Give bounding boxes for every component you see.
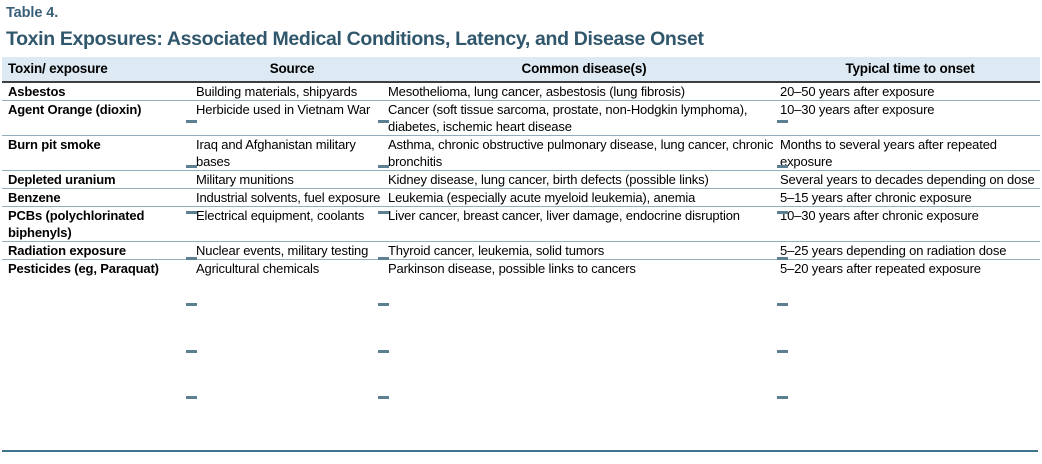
table-row: Asbestos Building materials, shipyards M… xyxy=(2,82,1040,101)
table-figure: Table 4. Toxin Exposures: Associated Med… xyxy=(0,0,1042,464)
table-bottom-rule xyxy=(2,450,1038,452)
table-row: Depleted uranium Military munitions Kidn… xyxy=(2,171,1040,189)
column-header-onset: Typical time to onset xyxy=(780,57,1040,82)
rule-tick xyxy=(378,350,389,353)
column-header-toxin: Toxin/ exposure xyxy=(2,57,196,82)
rule-tick xyxy=(378,303,389,306)
table-header: Toxin/ exposure Source Common disease(s)… xyxy=(2,57,1040,82)
table-header-row: Toxin/ exposure Source Common disease(s)… xyxy=(2,57,1040,82)
table-row: Burn pit smoke Iraq and Afghanistan mili… xyxy=(2,136,1040,171)
cell-source: Electrical equipment, coolants xyxy=(196,207,388,242)
table-row: Pesticides (eg, Paraquat) Agricultural c… xyxy=(2,260,1040,278)
rule-tick xyxy=(378,396,389,399)
table-row: Agent Orange (dioxin) Herbicide used in … xyxy=(2,101,1040,136)
cell-source: Nuclear events, military testing xyxy=(196,242,388,260)
cell-disease: Liver cancer, breast cancer, liver damag… xyxy=(388,207,780,242)
table-title: Toxin Exposures: Associated Medical Cond… xyxy=(0,22,1042,51)
rule-tick xyxy=(777,350,788,353)
cell-toxin: Radiation exposure xyxy=(2,242,196,260)
table-row: PCBs (polychlorinated biphenyls) Electri… xyxy=(2,207,1040,242)
cell-onset: 5–15 years after chronic exposure xyxy=(780,189,1040,207)
cell-toxin: Agent Orange (dioxin) xyxy=(2,101,196,136)
cell-toxin: Pesticides (eg, Paraquat) xyxy=(2,260,196,278)
table-row: Benzene Industrial solvents, fuel exposu… xyxy=(2,189,1040,207)
toxin-exposure-table: Toxin/ exposure Source Common disease(s)… xyxy=(2,57,1040,277)
cell-onset: Several years to decades depending on do… xyxy=(780,171,1040,189)
cell-source: Building materials, shipyards xyxy=(196,82,388,101)
cell-toxin: PCBs (polychlorinated biphenyls) xyxy=(2,207,196,242)
cell-disease: Cancer (soft tissue sarcoma, prostate, n… xyxy=(388,101,780,136)
cell-toxin: Depleted uranium xyxy=(2,171,196,189)
cell-disease: Kidney disease, lung cancer, birth defec… xyxy=(388,171,780,189)
cell-source: Industrial solvents, fuel exposure xyxy=(196,189,388,207)
cell-onset: 10–30 years after chronic exposure xyxy=(780,207,1040,242)
cell-source: Agricultural chemicals xyxy=(196,260,388,278)
cell-onset: 5–20 years after repeated exposure xyxy=(780,260,1040,278)
table-number-label: Table 4. xyxy=(0,0,1042,22)
cell-source: Herbicide used in Vietnam War xyxy=(196,101,388,136)
rule-tick xyxy=(777,396,788,399)
rule-tick xyxy=(186,303,197,306)
rule-tick xyxy=(186,350,197,353)
rule-tick xyxy=(186,396,197,399)
cell-disease: Mesothelioma, lung cancer, asbestosis (l… xyxy=(388,82,780,101)
table-body: Asbestos Building materials, shipyards M… xyxy=(2,82,1040,277)
cell-onset: 5–25 years depending on radiation dose xyxy=(780,242,1040,260)
rule-tick xyxy=(777,303,788,306)
cell-onset: 20–50 years after exposure xyxy=(780,82,1040,101)
column-header-disease: Common disease(s) xyxy=(388,57,780,82)
cell-source: Iraq and Afghanistan military bases xyxy=(196,136,388,171)
cell-onset: Months to several years after repeated e… xyxy=(780,136,1040,171)
cell-toxin: Asbestos xyxy=(2,82,196,101)
cell-onset: 10–30 years after exposure xyxy=(780,101,1040,136)
cell-disease: Leukemia (especially acute myeloid leuke… xyxy=(388,189,780,207)
column-header-source: Source xyxy=(196,57,388,82)
cell-toxin: Burn pit smoke xyxy=(2,136,196,171)
cell-disease: Thyroid cancer, leukemia, solid tumors xyxy=(388,242,780,260)
cell-disease: Asthma, chronic obstructive pulmonary di… xyxy=(388,136,780,171)
cell-disease: Parkinson disease, possible links to can… xyxy=(388,260,780,278)
cell-toxin: Benzene xyxy=(2,189,196,207)
table-row: Radiation exposure Nuclear events, milit… xyxy=(2,242,1040,260)
cell-source: Military munitions xyxy=(196,171,388,189)
